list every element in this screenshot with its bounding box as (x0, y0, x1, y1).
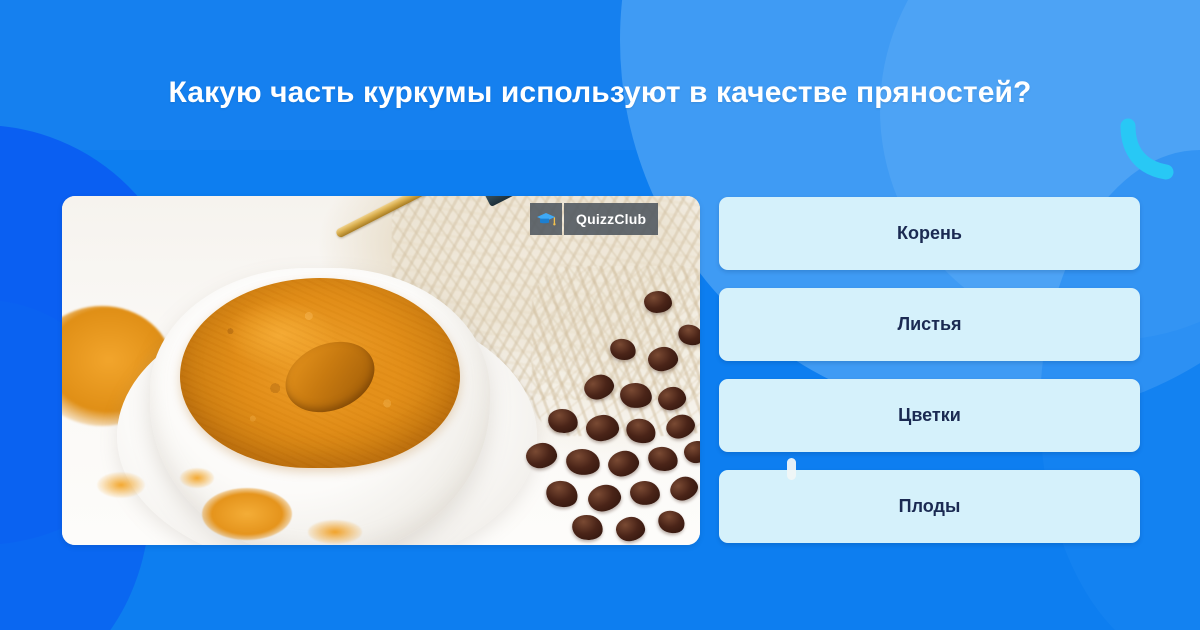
scroll-indicator[interactable] (787, 458, 796, 480)
quiz-card: Какую часть куркумы используют в качеств… (0, 0, 1200, 630)
answer-option-3-label: Цветки (898, 405, 961, 426)
answer-option-4[interactable]: Плоды (719, 470, 1140, 543)
raisins-cluster (492, 291, 700, 545)
answer-option-1-label: Корень (897, 223, 962, 244)
answer-option-2-label: Листья (897, 314, 961, 335)
question-image-card: QuizzClub (62, 196, 700, 545)
answer-option-3[interactable]: Цветки (719, 379, 1140, 452)
watermark-brand: QuizzClub (564, 203, 658, 235)
turmeric-spill-bottom-2 (97, 472, 145, 498)
question-image: QuizzClub (62, 196, 700, 545)
turmeric-spill-bottom-1 (202, 488, 292, 540)
turmeric-spill-bottom-4 (308, 520, 362, 544)
answer-options-list: Корень Листья Цветки Плоды (719, 197, 1140, 561)
answer-option-1[interactable]: Корень (719, 197, 1140, 270)
answer-option-2[interactable]: Листья (719, 288, 1140, 361)
graduation-cap-icon (530, 203, 562, 235)
page-title: Какую часть куркумы используют в качеств… (0, 74, 1200, 112)
turmeric-spill-bottom-3 (180, 468, 214, 488)
answer-option-4-label: Плоды (899, 496, 961, 517)
watermark: QuizzClub (530, 203, 658, 235)
decor-cyan-arc-icon (1122, 122, 1180, 180)
